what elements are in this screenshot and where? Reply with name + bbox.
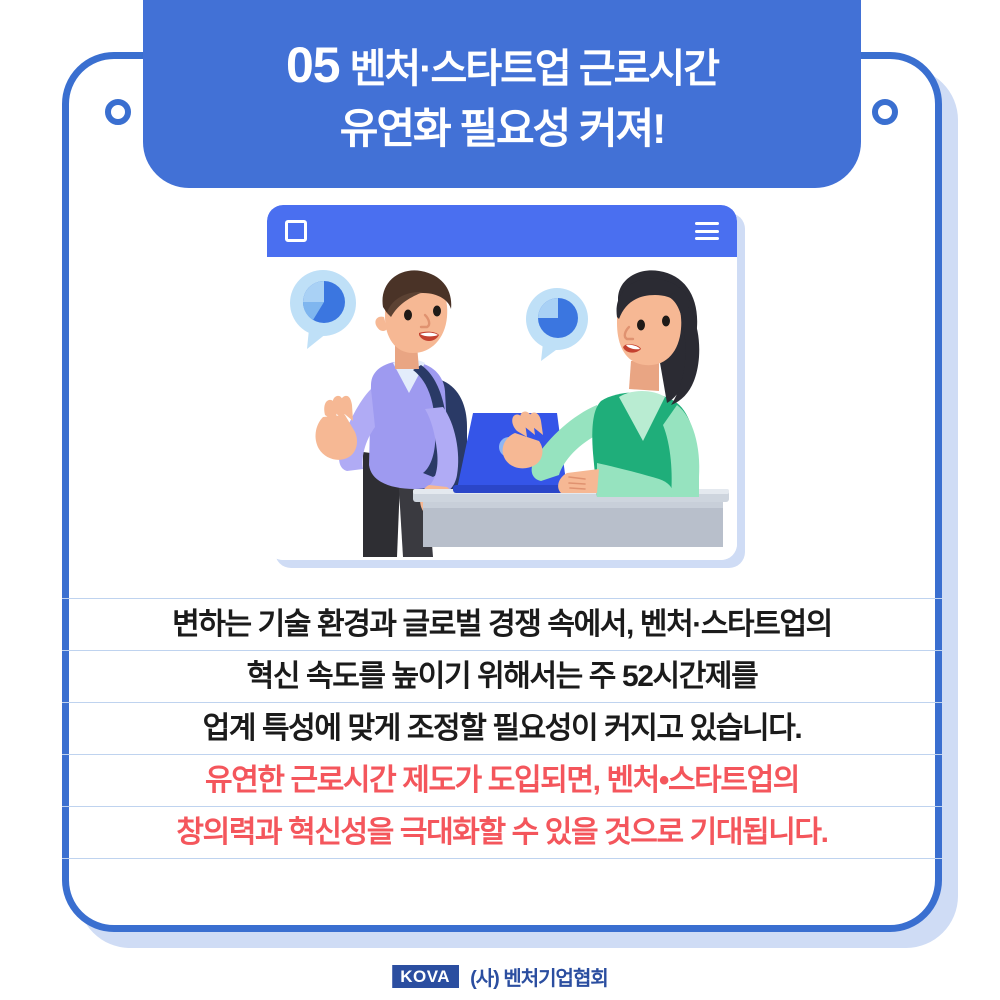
- body-text-line: 업계 특성에 맞게 조정할 필요성이 커지고 있습니다.: [62, 703, 942, 755]
- ring-decoration-left: [105, 99, 131, 125]
- body-text-line-highlight: 창의력과 혁신성을 극대화할 수 있을 것으로 기대됩니다.: [62, 807, 942, 859]
- infographic-card: 05 벤처·스타트업 근로시간 유연화 필요성 커져!: [0, 0, 1000, 1000]
- desk: [413, 489, 729, 547]
- ring-decoration-right: [872, 99, 898, 125]
- body-text-line: 혁신 속도를 높이기 위해서는 주 52시간제를: [62, 651, 942, 703]
- footer: KOVA (사) 벤처기업협회: [0, 962, 1000, 991]
- body-text-line-highlight: 유연한 근로시간 제도가 도입되면, 벤처•스타트업의: [62, 755, 942, 807]
- kova-logo: KOVA: [392, 965, 459, 989]
- banner-title-row: 05 벤처·스타트업 근로시간: [286, 40, 718, 90]
- illustration-browser-bar: [267, 205, 737, 257]
- banner-title-line-2: 유연화 필요성 커져!: [340, 108, 664, 150]
- illustration-canvas: [267, 205, 737, 560]
- header-banner: 05 벤처·스타트업 근로시간 유연화 필요성 커져!: [143, 0, 861, 188]
- organization-name: (사) 벤처기업협회: [470, 962, 608, 991]
- banner-title-line-1: 벤처·스타트업 근로시간: [350, 49, 718, 89]
- illustration-panel: [267, 205, 737, 560]
- people-illustration-svg: [267, 257, 737, 560]
- banner-number: 05: [286, 40, 340, 90]
- hamburger-menu-icon: [695, 222, 719, 240]
- body-text-block: 변하는 기술 환경과 글로벌 경쟁 속에서, 벤처·스타트업의 혁신 속도를 높…: [62, 598, 942, 859]
- square-outline-icon: [285, 220, 307, 242]
- body-text-line: 변하는 기술 환경과 글로벌 경쟁 속에서, 벤처·스타트업의: [62, 598, 942, 651]
